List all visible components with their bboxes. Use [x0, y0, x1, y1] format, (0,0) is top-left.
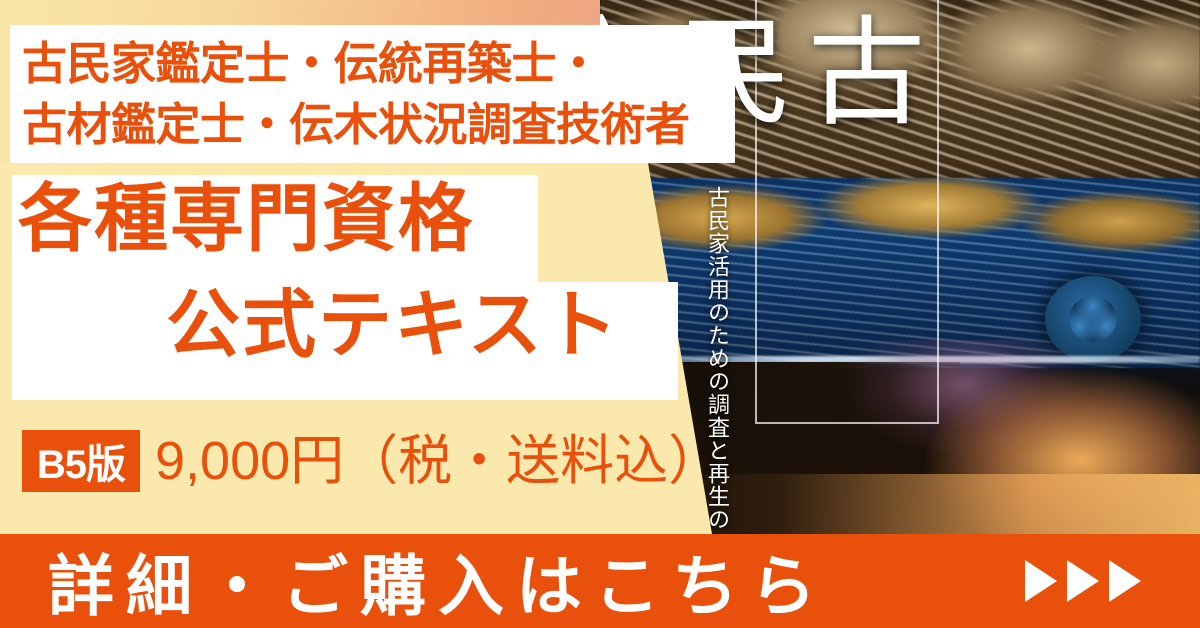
- triangle-right-icon: [1109, 560, 1141, 602]
- headline-line-2: 古材鑑定士・伝木状況調査技術者: [14, 94, 734, 155]
- headline-line-1: 古民家鑑定士・伝統再築士・: [14, 33, 734, 94]
- cta-arrow-group[interactable]: [1025, 534, 1141, 628]
- price-text: 9,000円（税・送料込）: [155, 432, 722, 490]
- page-title-line-1: 各種専門資格: [18, 182, 474, 256]
- triangle-right-icon: [1025, 560, 1057, 602]
- cta-label[interactable]: 詳細・ご購入はこちら: [48, 534, 828, 628]
- page-title-line-2: 公式テキスト: [166, 288, 620, 362]
- qualification-headline: 古民家鑑定士・伝統再築士・ 古材鑑定士・伝木状況調査技術者: [14, 24, 734, 164]
- promo-banner: 古 民 家 伝統構法 古民家活用のための調査と再生の 古民家鑑定士・伝統再築士・…: [0, 0, 1200, 628]
- triangle-right-icon: [1067, 560, 1099, 602]
- book-title: 古 民 家: [770, 10, 920, 128]
- format-badge: B5版: [22, 430, 140, 492]
